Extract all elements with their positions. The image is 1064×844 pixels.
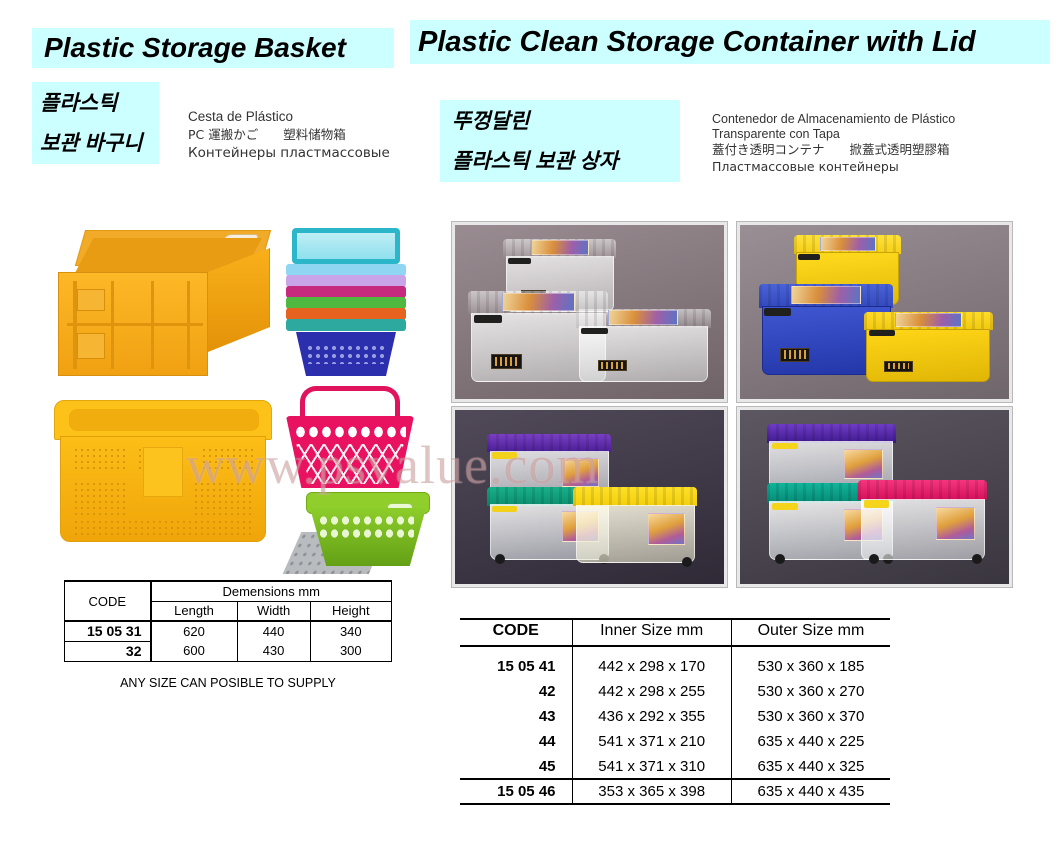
left-korean-line-1: 플라스틱 [40,84,159,124]
left-section-title: Plastic Storage Basket [32,28,394,68]
photo-yellow-blue-containers [737,222,1012,402]
left-dimensions-table: CODE Demensions mm Length Width Height 1… [64,580,392,662]
catalog-page: Plastic Storage Basket 플라스틱 보관 바구니 Cesta… [0,0,1064,844]
right-row-5-inner: 353 x 365 x 398 [572,779,731,804]
right-multilingual-names: Contenedor de Almacenamiento de Plástico… [712,112,955,175]
right-table-row: 15 05 41 442 x 298 x 170 530 x 360 x 185 [460,654,890,679]
right-korean-title: 뚜껑달린 플라스틱 보관 상자 [440,100,680,182]
right-row-0-code: 15 05 41 [460,654,572,679]
right-row-1-outer: 530 x 360 x 270 [731,679,890,704]
left-table-header-height: Height [310,601,391,621]
right-name-russian: Пластмассовые контейнеры [712,159,955,176]
photo-purple-teal-pink-lid-containers [737,407,1012,587]
right-table-row: 42 442 x 298 x 255 530 x 360 x 270 [460,679,890,704]
right-row-5-outer: 635 x 440 x 435 [731,779,890,804]
right-row-1-inner: 442 x 298 x 255 [572,679,731,704]
right-table-row: 43 436 x 292 x 355 530 x 360 x 370 [460,704,890,729]
right-name-spanish-2: Transparente con Tapa [712,127,955,142]
right-row-2-code: 43 [460,704,572,729]
left-table-note: ANY SIZE CAN POSIBLE TO SUPPLY [64,676,392,690]
right-row-4-inner: 541 x 371 x 310 [572,754,731,779]
left-multilingual-names: Cesta de Plástico PC 運搬かご 塑料储物箱 Контейне… [188,108,390,162]
right-table-header-code: CODE [460,619,572,646]
right-table-header-outer: Outer Size mm [731,619,890,646]
right-row-3-inner: 541 x 371 x 210 [572,729,731,754]
right-korean-line-1: 뚜껑달린 [452,102,680,142]
right-row-3-outer: 635 x 440 x 225 [731,729,890,754]
pink-shopping-basket-illustration [286,386,414,494]
left-row-1-code: 32 [65,641,151,661]
right-name-cjk: 蓋付き透明コンテナ 掀蓋式透明塑膠箱 [712,142,955,159]
photo-purple-green-yellow-lid-containers [452,407,727,587]
right-korean-line-2: 플라스틱 보관 상자 [452,142,680,182]
right-row-2-outer: 530 x 360 x 370 [731,704,890,729]
left-row-0-code: 15 05 31 [65,621,151,641]
right-table-row: 15 05 46 353 x 365 x 398 635 x 440 x 435 [460,779,890,804]
photo-clear-containers-three-sizes [452,222,727,402]
left-table-row: 15 05 31 620 440 340 [65,621,392,641]
left-row-1-height: 300 [310,641,391,661]
left-korean-title: 플라스틱 보관 바구니 [32,82,159,164]
right-table-row: 45 541 x 371 x 310 635 x 440 x 325 [460,754,890,779]
right-row-2-inner: 436 x 292 x 355 [572,704,731,729]
left-row-0-length: 620 [151,621,238,641]
left-row-0-width: 440 [237,621,310,641]
left-row-1-length: 600 [151,641,238,661]
right-table-header-inner: Inner Size mm [572,619,731,646]
right-row-3-code: 44 [460,729,572,754]
right-table-row: 44 541 x 371 x 210 635 x 440 x 225 [460,729,890,754]
stacked-colored-baskets-illustration [286,228,406,378]
right-row-4-code: 45 [460,754,572,779]
left-korean-line-2: 보관 바구니 [40,124,159,164]
left-name-russian: Контейнеры пластмассовые [188,144,390,162]
right-section-title: Plastic Clean Storage Container with Lid [410,20,1050,64]
green-basket-illustration [292,486,432,574]
right-sizes-table: CODE Inner Size mm Outer Size mm 15 05 4… [460,618,890,805]
orange-folding-crate-illustration [58,230,270,382]
right-row-0-outer: 530 x 360 x 185 [731,654,890,679]
left-table-header-length: Length [151,601,238,621]
right-row-1-code: 42 [460,679,572,704]
right-row-5-code: 15 05 46 [460,779,572,804]
right-row-4-outer: 635 x 440 x 325 [731,754,890,779]
left-row-0-height: 340 [310,621,391,641]
right-row-0-inner: 442 x 298 x 170 [572,654,731,679]
yellow-mesh-crate-illustration [54,400,272,548]
left-product-illustrations [40,218,440,578]
left-table-header-width: Width [237,601,310,621]
left-name-cjk: PC 運搬かご 塑料储物箱 [188,126,390,144]
left-name-spanish: Cesta de Plástico [188,108,390,126]
left-row-1-width: 430 [237,641,310,661]
right-name-spanish-1: Contenedor de Almacenamiento de Plástico [712,112,955,127]
left-table-header-group: Demensions mm [151,581,392,601]
left-table-header-code: CODE [65,581,151,621]
left-table-row: 32 600 430 300 [65,641,392,661]
